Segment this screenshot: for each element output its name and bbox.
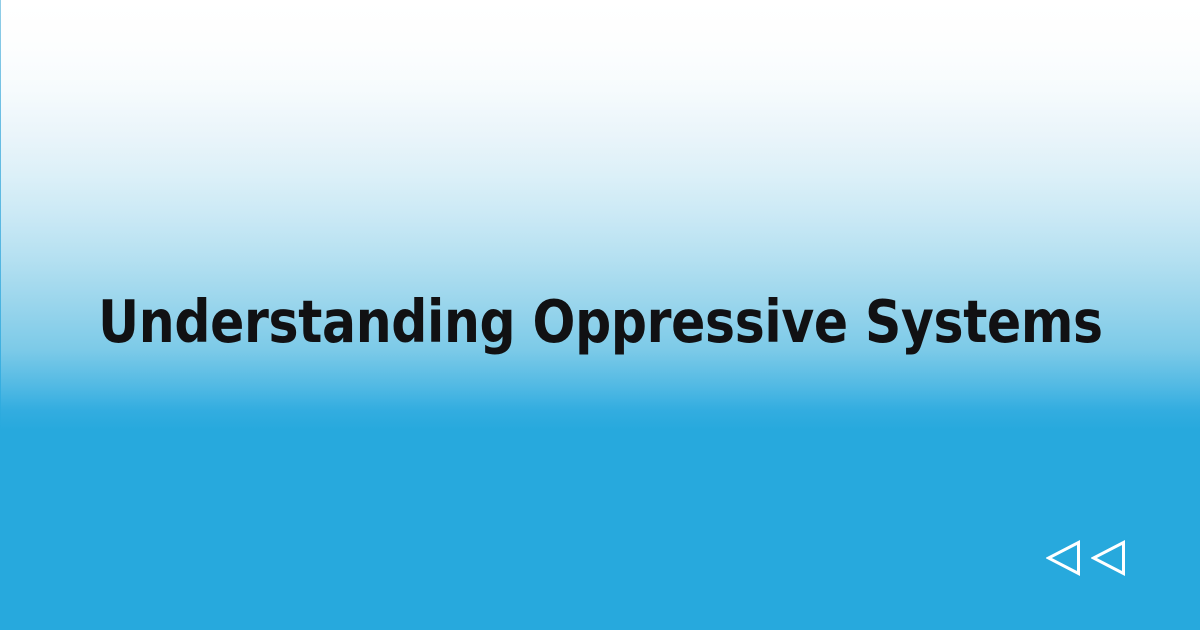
navigation-icon-group[interactable]	[1046, 540, 1125, 576]
rewind-previous-icon-secondary[interactable]	[1091, 540, 1125, 576]
page-title: Understanding Oppressive Systems	[98, 288, 1103, 356]
banner-card: Understanding Oppressive Systems	[0, 0, 1200, 630]
rewind-previous-icon[interactable]	[1046, 540, 1080, 576]
title-container: Understanding Oppressive Systems	[0, 288, 1200, 356]
